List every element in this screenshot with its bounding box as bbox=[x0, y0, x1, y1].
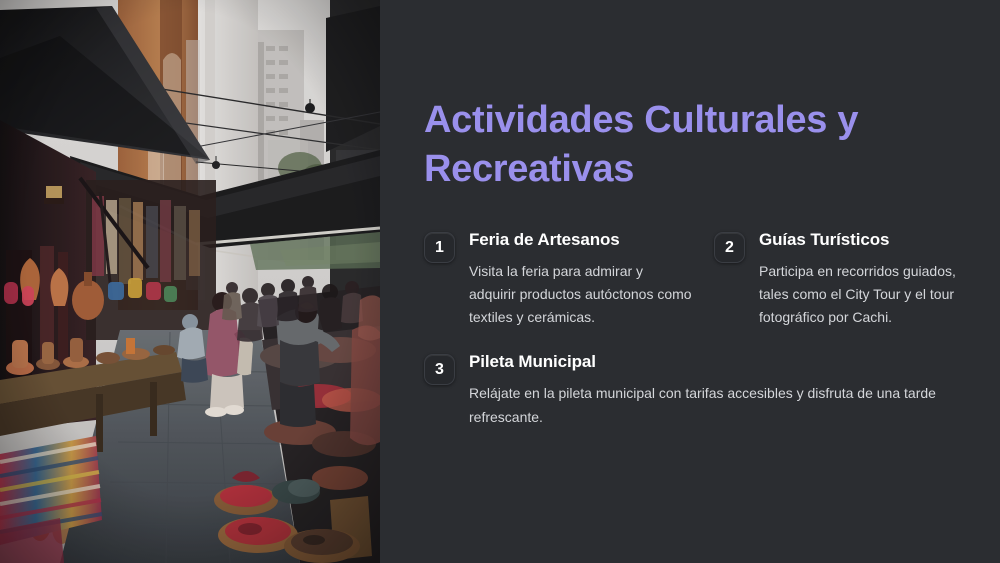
item-title: Guías Turísticos bbox=[759, 229, 982, 252]
item-description: Participa en recorridos guiados, tales c… bbox=[759, 260, 982, 329]
item-description: Relájate en la pileta municipal con tari… bbox=[469, 382, 982, 428]
content-panel: Actividades Culturales y Recreativas 1 F… bbox=[380, 0, 1000, 563]
slide: Actividades Culturales y Recreativas 1 F… bbox=[0, 0, 1000, 563]
item-body: Pileta Municipal Relájate en la pileta m… bbox=[469, 351, 982, 428]
item-number-badge: 2 bbox=[714, 232, 745, 263]
list-item: 2 Guías Turísticos Participa en recorrid… bbox=[714, 229, 982, 329]
item-number-badge: 1 bbox=[424, 232, 455, 263]
item-body: Guías Turísticos Participa en recorridos… bbox=[759, 229, 982, 329]
list-item: 1 Feria de Artesanos Visita la feria par… bbox=[424, 229, 692, 329]
list-item: 3 Pileta Municipal Relájate en la pileta… bbox=[424, 351, 982, 428]
item-description: Visita la feria para admirar y adquirir … bbox=[469, 260, 692, 329]
item-number-badge: 3 bbox=[424, 354, 455, 385]
activities-list: 1 Feria de Artesanos Visita la feria par… bbox=[424, 229, 982, 428]
market-photo bbox=[0, 0, 380, 563]
item-body: Feria de Artesanos Visita la feria para … bbox=[469, 229, 692, 329]
item-title: Pileta Municipal bbox=[469, 351, 982, 374]
page-title: Actividades Culturales y Recreativas bbox=[424, 96, 894, 193]
item-title: Feria de Artesanos bbox=[469, 229, 692, 252]
market-photo-illustration bbox=[0, 0, 380, 563]
